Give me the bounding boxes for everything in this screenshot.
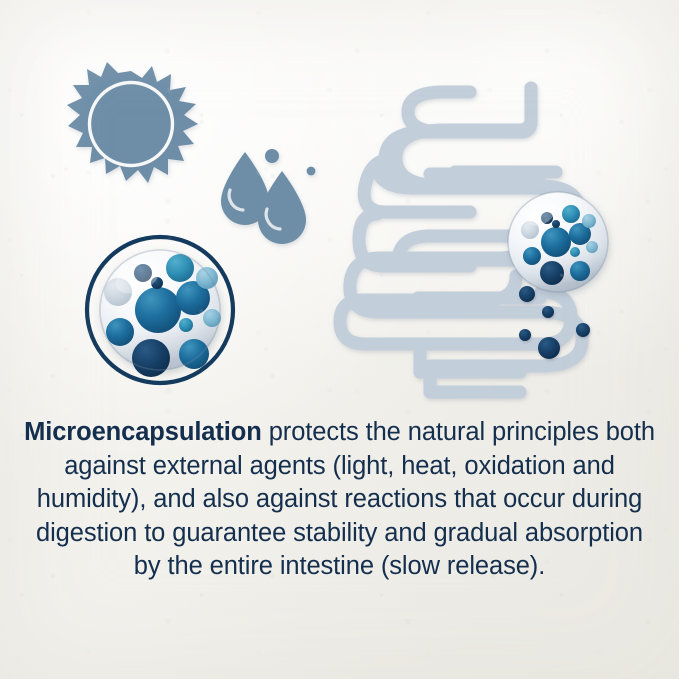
droplet-sparkle-1 <box>265 149 279 163</box>
sun-icon <box>67 62 198 183</box>
droplet-sparkle-2 <box>307 167 316 176</box>
released-granule <box>576 323 590 337</box>
released-granule <box>519 329 531 341</box>
water-droplets-icon <box>221 149 315 244</box>
released-granule <box>519 286 535 302</box>
caption-lead: Microencapsulation <box>24 418 262 446</box>
microcapsule-small <box>508 192 608 292</box>
infographic-canvas: Microencapsulation protects the natural … <box>0 0 679 679</box>
released-granule <box>538 337 560 359</box>
microcapsule-large <box>87 237 233 383</box>
caption-text: Microencapsulation protects the natural … <box>24 416 655 584</box>
released-granule <box>542 306 554 318</box>
droplet-right <box>258 171 306 244</box>
